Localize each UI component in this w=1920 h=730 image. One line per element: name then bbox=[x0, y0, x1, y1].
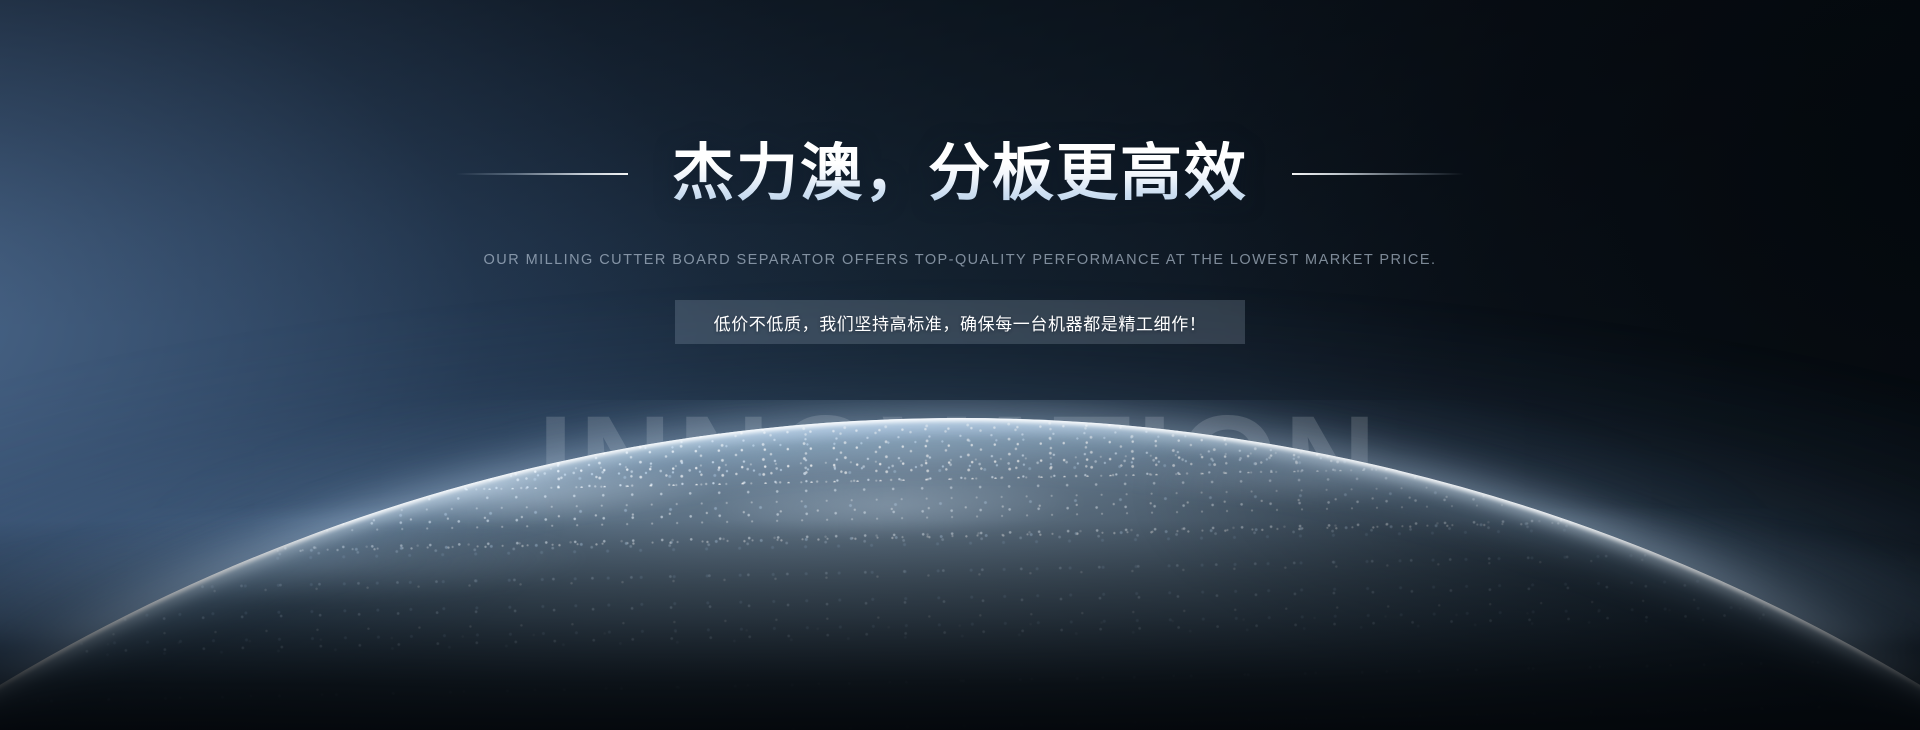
earth-bottom-fade bbox=[0, 520, 1920, 730]
pledge-text: 低价不低质，我们坚持高标准，确保每一台机器都是精工细作！ bbox=[714, 310, 1207, 335]
banner-subtitle: OUR MILLING CUTTER BOARD SEPARATOR OFFER… bbox=[0, 252, 1920, 268]
hero-banner: INNOVATION 杰力澳，分板更高效 OUR MILLING CUTTER … bbox=[0, 0, 1920, 730]
headline-rule-right-icon bbox=[1292, 173, 1464, 175]
earth-horizon bbox=[0, 400, 1920, 730]
pledge-bar: 低价不低质，我们坚持高标准，确保每一台机器都是精工细作！ bbox=[675, 300, 1245, 344]
headline-row: 杰力澳，分板更高效 bbox=[0, 128, 1920, 220]
page-title: 杰力澳，分板更高效 bbox=[672, 141, 1248, 208]
headline-rule-left-icon bbox=[456, 173, 628, 175]
